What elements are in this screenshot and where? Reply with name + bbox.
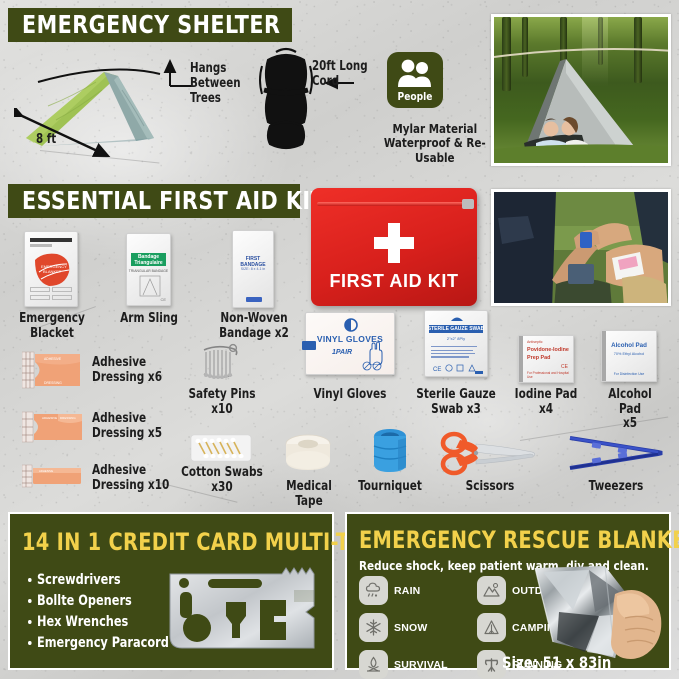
gauze-brand-icon [449, 314, 465, 322]
label-alcohol-pad: Alcohol Pad x5 [596, 388, 664, 432]
section-header-first-aid-text: ESSENTIAL FIRST AID KIT [22, 186, 325, 215]
alcohol-line1: Alcohol Pad [602, 342, 656, 349]
tweezers-illustration [566, 430, 666, 476]
iodine-foot: For Professional and Hospital Use [527, 371, 573, 379]
packet-emergency-blanket: EMERGENCY BLANKET [24, 231, 78, 307]
adhesive-dressing-5-illustration: ADHESIVE DRESSING [22, 411, 84, 443]
panel-multitool: 14 IN 1 CREDIT CARD MULTI-TOOL Screwdriv… [8, 512, 334, 670]
svg-text:CE: CE [433, 367, 441, 372]
label-tweezers: Tweezers [582, 480, 650, 495]
label-cotton-swabs: Cotton Swabs x30 [181, 466, 264, 495]
label-iodine-pad: Iodine Pad x4 [514, 388, 579, 417]
gauze-title: STERILE GAUZE SWAB [425, 326, 487, 332]
survival-icon [359, 650, 388, 679]
label-vinyl-gloves: Vinyl Gloves [310, 388, 391, 403]
multitool-bullet-3: Emergency Paracord [28, 635, 169, 651]
alcohol-line2: 70% Ethyl Alcohol [602, 352, 656, 356]
medical-tape-illustration [282, 432, 334, 474]
multitool-bullet-2-label: Hex Wrenches [37, 614, 128, 630]
multitool-bullet-2: Hex Wrenches [28, 614, 128, 630]
label-safety-pins: Safety Pins x10 [182, 388, 261, 417]
feature-snow: SNOW [359, 613, 427, 642]
bullet-dot-icon [28, 620, 32, 624]
iodine-line2: Prep Pad [527, 355, 550, 361]
sling-sub: TRIANGULAR BANDAGE [127, 269, 170, 273]
care-symbols-icon [362, 361, 382, 371]
label-emergency-blanket: Emergency Blacket [9, 312, 95, 341]
label-adhesive-dressing-10: Adhesive Dressing x10 [92, 464, 191, 493]
section-header-first-aid: ESSENTIAL FIRST AID KIT [8, 184, 300, 218]
bullet-dot-icon [28, 599, 32, 603]
annotation-cord-length: 20ft Long Cord [312, 60, 368, 90]
first-aid-kit-bag: FIRST AID KIT [311, 188, 477, 306]
panel-blanket-title: EMERGENCY RESCUE BLANKET [359, 526, 679, 554]
packet-arm-sling: Bandage Triangulaire TRIANGULAR BANDAGE … [126, 233, 171, 306]
snow-icon [359, 613, 388, 642]
svg-text:ADHESIVE: ADHESIVE [39, 469, 53, 473]
fit-2-people-label: Fit 2 People [389, 77, 441, 103]
label-scissors: Scissors [456, 480, 524, 495]
photo-shelter-in-use [491, 14, 671, 166]
cotton-swabs-illustration [190, 432, 252, 464]
tent-photo-overlay [494, 17, 671, 166]
annotation-mylar-material: Mylar Material Waterproof & Re-Usable [375, 122, 495, 165]
camping-icon [477, 613, 506, 642]
gloves-sub: 1PAIR [332, 349, 352, 356]
gauze-sub: 2"x2" 8Ply [425, 336, 487, 341]
first-aid-kit-bag-label: FIRST AID KIT [311, 271, 477, 292]
annotation-hangs-between-trees: Hangs Between Trees [190, 62, 241, 107]
packet-iodine-pad: Antiseptic Povidone-Iodine Prep Pad CE F… [518, 335, 574, 383]
width-dimension-arrow [14, 108, 119, 162]
gauze-symbols-icon: CE [433, 364, 481, 372]
label-adhesive-dressing-6: Adhesive Dressing x6 [92, 356, 186, 385]
nonwoven-size: SIZE: 8 x 4.1 in [233, 267, 273, 271]
label-non-woven-bandage: Non-Woven Bandage x2 [196, 312, 311, 341]
iodine-ce: CE [561, 364, 568, 370]
feature-survival: SURVIVAL [359, 650, 448, 679]
label-arm-sling: Arm Sling [114, 312, 184, 327]
feature-snow-label: SNOW [394, 622, 427, 634]
feature-survival-label: SURVIVAL [394, 659, 448, 671]
blanket-size-text: Size: 51 x 83in [502, 653, 611, 672]
adhesive-dressing-10-illustration: ADHESIVE [22, 464, 84, 488]
sling-diagram [139, 275, 161, 297]
scissors-illustration [440, 430, 540, 476]
multitool-bullet-3-label: Emergency Paracord [37, 635, 169, 651]
gloves-brand-icon [344, 318, 358, 332]
section-header-shelter: EMERGENCY SHELTER [8, 8, 292, 42]
multitool-bullet-0: Screwdrivers [28, 572, 121, 588]
section-header-shelter-text: EMERGENCY SHELTER [22, 10, 280, 39]
annotation-width: 8 ft [36, 133, 56, 148]
bullet-dot-icon [28, 641, 32, 645]
outdoors-icon [477, 576, 506, 605]
first-aid-photo-art [494, 192, 671, 306]
zipper [317, 202, 471, 206]
adhesive-dressing-6-illustration: ADHESIVE DRESSING [22, 351, 82, 389]
svg-text:DRESSING: DRESSING [44, 381, 62, 385]
tourniquet-illustration [368, 426, 412, 476]
zipper-pull-icon [462, 199, 474, 209]
iodine-line1: Povidone-Iodine [527, 347, 569, 353]
svg-text:ADHESIVE: ADHESIVE [44, 357, 62, 361]
blanket-graphic: EMERGENCY BLANKET [31, 250, 73, 290]
packet-vinyl-gloves: VINYL GLOVES 1PAIR [305, 312, 395, 375]
svg-text:ADHESIVE: ADHESIVE [42, 416, 57, 420]
sling-title-2: Triangulaire [127, 260, 170, 266]
multitool-bullet-1-label: Bollte Openers [37, 593, 132, 609]
svg-text:BLANKET: BLANKET [43, 269, 62, 274]
label-adhesive-dressing-5: Adhesive Dressing x5 [92, 412, 186, 441]
fit-2-people-badge: Fit 2 People [387, 52, 443, 108]
svg-text:DRESSING: DRESSING [60, 416, 76, 420]
packet-non-woven-bandage: FIRST BANDAGE SIZE: 8 x 4.1 in [232, 230, 274, 308]
label-medical-tape: Medical Tape [272, 480, 346, 509]
rain-icon [359, 576, 388, 605]
infographic-page: EMERGENCY SHELTER 8 ft Hangs Between [0, 0, 679, 679]
multitool-bullet-1: Bollte Openers [28, 593, 132, 609]
alcohol-foot: For Disinfection Use [602, 372, 656, 376]
panel-rescue-blanket: EMERGENCY RESCUE BLANKET Reduce shock, k… [345, 512, 671, 670]
feature-rain-label: RAIN [394, 585, 420, 597]
safety-pins-illustration [200, 340, 242, 384]
packet-alcohol-pad: Alcohol Pad 70% Ethyl Alcohol For Disinf… [601, 330, 657, 382]
credit-card-multitool-illustration [164, 562, 320, 658]
photo-first-aid-in-use [491, 189, 671, 306]
multitool-bullet-0-label: Screwdrivers [37, 572, 121, 588]
paracord-illustration [252, 46, 320, 156]
feature-rain: RAIN [359, 576, 420, 605]
label-sterile-gauze: Sterile Gauze Swab x3 [404, 388, 508, 417]
bullet-dot-icon [28, 578, 32, 582]
label-tourniquet: Tourniquet [356, 480, 424, 495]
panel-multitool-title: 14 IN 1 CREDIT CARD MULTI-TOOL [22, 528, 395, 556]
iodine-brand: Antiseptic [527, 340, 543, 344]
sling-ce: CE [160, 297, 166, 302]
red-cross-icon [372, 221, 416, 265]
packet-sterile-gauze: STERILE GAUZE SWAB 2"x2" 8Ply CE [424, 310, 488, 377]
